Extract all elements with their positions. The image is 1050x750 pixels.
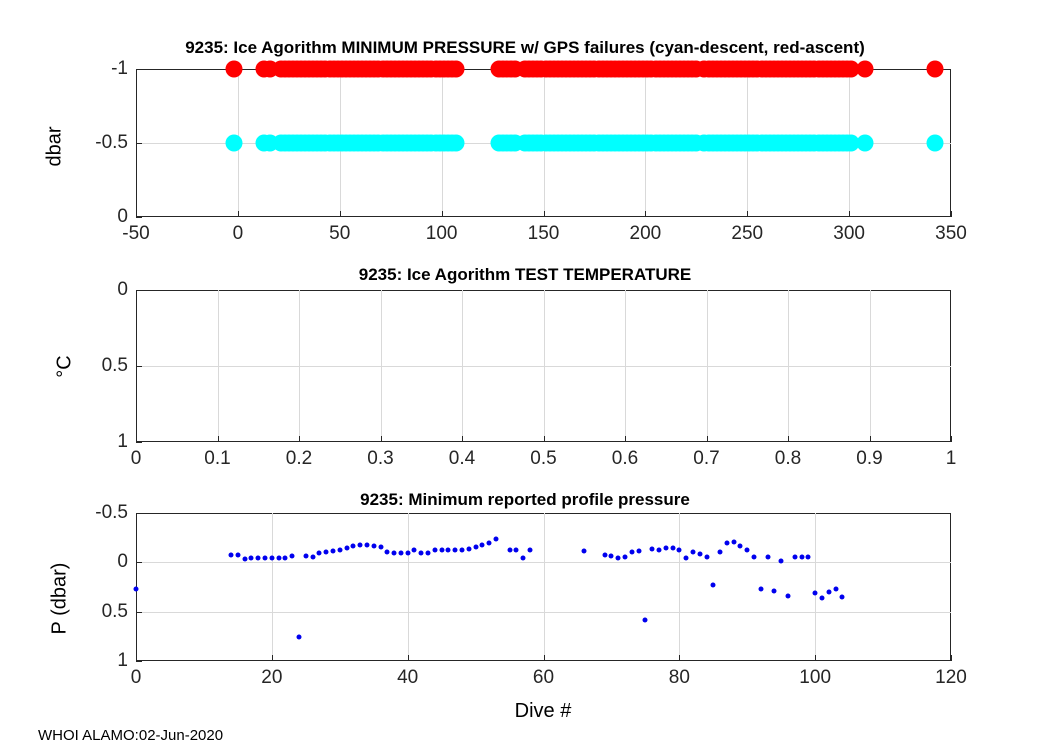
x-tick-label: 250 — [731, 223, 763, 245]
y-tick — [136, 513, 142, 514]
data-point-marker — [256, 556, 261, 561]
x-tick — [645, 211, 646, 217]
gridline-vertical — [815, 513, 816, 661]
subplot-min-profile-pressure: 9235: Minimum reported profile pressure … — [0, 480, 1050, 750]
data-point-marker — [225, 135, 242, 152]
y-tick — [136, 143, 142, 144]
y-tick — [136, 217, 142, 218]
x-tick — [544, 436, 545, 442]
gridline-horizontal — [136, 562, 951, 563]
data-point-marker — [447, 135, 464, 152]
data-point-marker — [650, 546, 655, 551]
gridline-vertical — [679, 513, 680, 661]
data-point-marker — [290, 554, 295, 559]
data-point-marker — [385, 550, 390, 555]
x-tick-label: 1 — [946, 448, 957, 470]
x-tick — [544, 211, 545, 217]
x-tick-label: 0.7 — [693, 448, 719, 470]
x-tick-label: 0.3 — [367, 448, 393, 470]
data-point-marker — [447, 61, 464, 78]
data-point-marker — [656, 547, 661, 552]
data-point-marker — [806, 555, 811, 560]
data-point-marker — [745, 547, 750, 552]
data-point-marker — [134, 586, 139, 591]
data-point-marker — [446, 548, 451, 553]
x-tick — [849, 211, 850, 217]
data-point-marker — [926, 135, 943, 152]
y-tick — [136, 290, 142, 291]
x-tick-label: 0.2 — [286, 448, 312, 470]
y-tick-label: -0.5 — [66, 502, 128, 524]
data-point-marker — [629, 550, 634, 555]
data-point-marker — [521, 556, 526, 561]
x-tick — [238, 211, 239, 217]
x-tick-label: 0 — [131, 448, 142, 470]
y-tick-label: 0 — [66, 279, 128, 301]
data-point-marker — [276, 556, 281, 561]
x-tick — [788, 436, 789, 442]
data-point-marker — [473, 544, 478, 549]
data-point-marker — [765, 555, 770, 560]
data-point-marker — [670, 545, 675, 550]
data-point-marker — [826, 589, 831, 594]
x-tick-label: 0 — [233, 223, 244, 245]
y-tick — [136, 366, 142, 367]
data-point-marker — [704, 555, 709, 560]
y-tick — [136, 661, 142, 662]
x-tick — [299, 436, 300, 442]
data-point-marker — [392, 551, 397, 556]
x-tick-label: 100 — [799, 667, 831, 689]
gridline-vertical — [544, 513, 545, 661]
y-tick — [136, 562, 142, 563]
data-point-marker — [609, 554, 614, 559]
data-point-marker — [330, 549, 335, 554]
data-point-marker — [697, 552, 702, 557]
y-tick — [136, 612, 142, 613]
x-tick — [870, 436, 871, 442]
subplot1-ylabel: dbar — [44, 87, 67, 207]
x-tick — [951, 655, 952, 661]
data-point-marker — [439, 547, 444, 552]
data-point-marker — [487, 540, 492, 545]
data-point-marker — [718, 550, 723, 555]
subplot-gps-failures: 9235: Ice Agorithm MINIMUM PRESSURE w/ G… — [0, 0, 1050, 250]
data-point-marker — [344, 545, 349, 550]
x-tick — [679, 655, 680, 661]
data-point-marker — [493, 536, 498, 541]
x-tick — [218, 436, 219, 442]
x-tick-label: 20 — [261, 667, 282, 689]
data-point-marker — [731, 539, 736, 544]
subplot2-plot-area — [136, 290, 951, 442]
subplot3-title: 9235: Minimum reported profile pressure — [0, 490, 1050, 510]
data-point-marker — [229, 553, 234, 558]
x-tick-label: 0 — [131, 667, 142, 689]
data-point-marker — [514, 548, 519, 553]
x-tick-label: 150 — [528, 223, 560, 245]
data-point-marker — [636, 549, 641, 554]
x-tick-label: 300 — [833, 223, 865, 245]
data-point-marker — [310, 555, 315, 560]
data-point-marker — [792, 555, 797, 560]
x-tick-label: 0.9 — [856, 448, 882, 470]
data-point-marker — [779, 559, 784, 564]
data-point-marker — [225, 61, 242, 78]
gridline-horizontal — [136, 366, 951, 367]
data-point-marker — [351, 543, 356, 548]
data-point-marker — [840, 594, 845, 599]
data-point-marker — [235, 553, 240, 558]
data-point-marker — [412, 548, 417, 553]
x-tick-label: 120 — [935, 667, 967, 689]
x-tick — [951, 211, 952, 217]
x-tick-label: 80 — [669, 667, 690, 689]
subplot1-title: 9235: Ice Agorithm MINIMUM PRESSURE w/ G… — [0, 38, 1050, 58]
x-tick-label: 0.6 — [612, 448, 638, 470]
data-point-marker — [419, 551, 424, 556]
data-point-marker — [857, 135, 874, 152]
data-point-marker — [527, 547, 532, 552]
x-tick-label: 50 — [329, 223, 350, 245]
data-point-marker — [602, 553, 607, 558]
data-point-marker — [738, 543, 743, 548]
data-point-marker — [758, 586, 763, 591]
data-point-marker — [690, 550, 695, 555]
x-tick-label: 0.1 — [204, 448, 230, 470]
x-tick-label: 40 — [397, 667, 418, 689]
data-point-marker — [582, 549, 587, 554]
data-point-marker — [813, 590, 818, 595]
data-point-marker — [303, 554, 308, 559]
data-point-marker — [857, 61, 874, 78]
data-point-marker — [480, 542, 485, 547]
subplot2-title: 9235: Ice Agorithm TEST TEMPERATURE — [0, 265, 1050, 285]
y-tick-label: -0.5 — [66, 132, 128, 154]
data-point-marker — [453, 548, 458, 553]
data-point-marker — [926, 61, 943, 78]
y-tick-label: 0 — [66, 551, 128, 573]
y-tick-label: 0.5 — [66, 601, 128, 623]
x-tick — [707, 436, 708, 442]
data-point-marker — [426, 551, 431, 556]
data-point-marker — [799, 555, 804, 560]
figure-footer: WHOI ALAMO:02-Jun-2020 — [38, 727, 223, 744]
data-point-marker — [317, 551, 322, 556]
subplot3-xlabel: Dive # — [443, 700, 643, 723]
y-tick — [136, 69, 142, 70]
x-tick — [408, 655, 409, 661]
y-tick-label: 0 — [66, 206, 128, 228]
subplot3-plot-area — [136, 513, 951, 661]
data-point-marker — [324, 550, 329, 555]
x-tick — [272, 655, 273, 661]
x-tick-label: 100 — [426, 223, 458, 245]
x-tick — [951, 436, 952, 442]
x-tick-label: 0.4 — [449, 448, 475, 470]
subplot-test-temperature: 9235: Ice Agorithm TEST TEMPERATURE °C 0… — [0, 250, 1050, 480]
data-point-marker — [677, 548, 682, 553]
data-point-marker — [724, 540, 729, 545]
data-point-marker — [460, 548, 465, 553]
data-point-marker — [772, 588, 777, 593]
data-point-marker — [364, 542, 369, 547]
data-point-marker — [623, 555, 628, 560]
y-tick — [136, 442, 142, 443]
data-point-marker — [263, 556, 268, 561]
data-point-marker — [432, 547, 437, 552]
data-point-marker — [371, 543, 376, 548]
y-tick-label: -1 — [66, 58, 128, 80]
data-point-marker — [269, 556, 274, 561]
gridline-vertical — [408, 513, 409, 661]
gridline-horizontal — [136, 612, 951, 613]
x-tick-label: 0.8 — [775, 448, 801, 470]
y-tick-label: 1 — [66, 650, 128, 672]
x-tick-label: 60 — [533, 667, 554, 689]
x-tick-label: 350 — [935, 223, 967, 245]
data-point-marker — [616, 556, 621, 561]
data-point-marker — [249, 556, 254, 561]
subplot1-plot-area — [136, 69, 951, 217]
data-point-marker — [398, 551, 403, 556]
x-tick — [625, 436, 626, 442]
data-point-marker — [711, 583, 716, 588]
data-point-marker — [297, 635, 302, 640]
data-point-marker — [663, 545, 668, 550]
data-point-marker — [405, 551, 410, 556]
x-tick — [747, 211, 748, 217]
matlab-figure: 9235: Ice Agorithm MINIMUM PRESSURE w/ G… — [0, 0, 1050, 750]
x-tick-label: 200 — [630, 223, 662, 245]
data-point-marker — [337, 547, 342, 552]
x-tick-label: 0.5 — [530, 448, 556, 470]
x-tick — [815, 655, 816, 661]
data-point-marker — [684, 556, 689, 561]
x-tick — [442, 211, 443, 217]
x-tick — [340, 211, 341, 217]
y-tick-label: 1 — [66, 431, 128, 453]
data-point-marker — [786, 593, 791, 598]
data-point-marker — [242, 557, 247, 562]
data-point-marker — [833, 586, 838, 591]
data-point-marker — [819, 595, 824, 600]
x-tick — [381, 436, 382, 442]
data-point-marker — [466, 546, 471, 551]
data-point-marker — [643, 617, 648, 622]
data-point-marker — [358, 542, 363, 547]
data-point-marker — [378, 544, 383, 549]
y-tick-label: 0.5 — [66, 355, 128, 377]
x-tick — [462, 436, 463, 442]
gridline-vertical — [272, 513, 273, 661]
x-tick — [544, 655, 545, 661]
data-point-marker — [283, 556, 288, 561]
data-point-marker — [507, 548, 512, 553]
data-point-marker — [752, 555, 757, 560]
